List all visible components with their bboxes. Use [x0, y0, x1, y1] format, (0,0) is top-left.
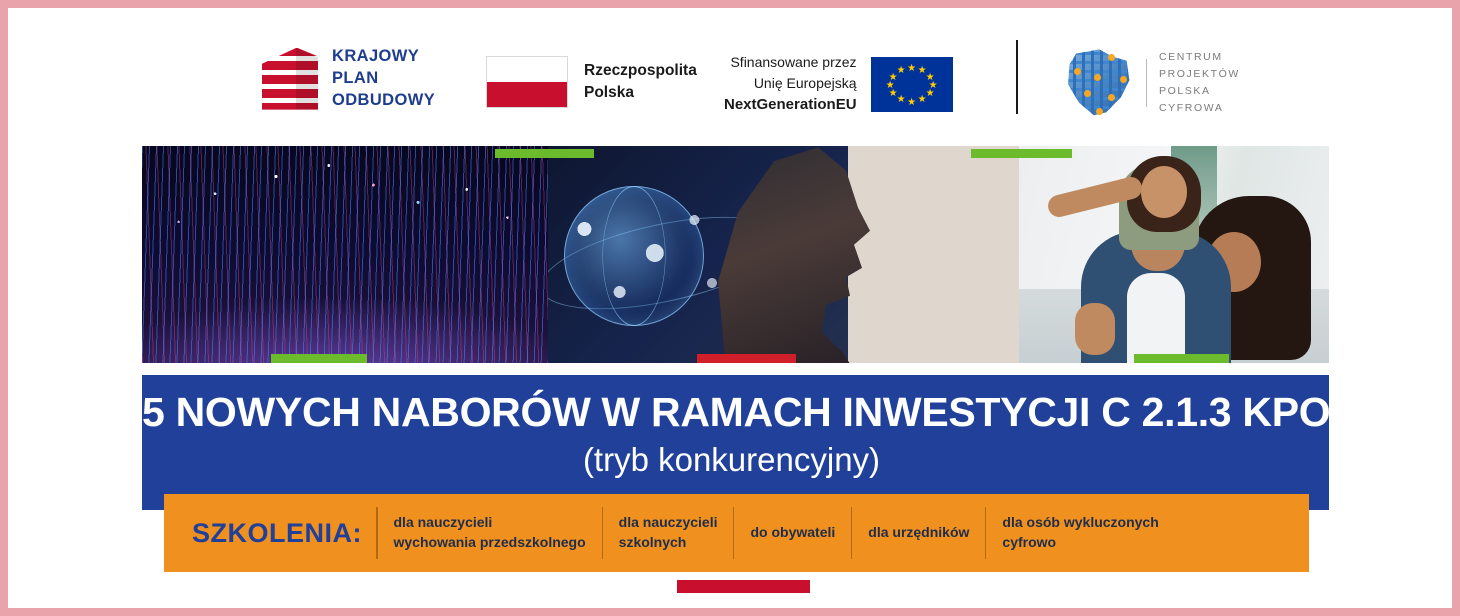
eu-flag-icon: ★ ★ ★ ★ ★ ★ ★ ★ ★ ★ ★ ★: [871, 57, 953, 112]
headline-banner: 5 NOWYCH NABORÓW W RAMACH INWESTYCJI C 2…: [142, 375, 1329, 510]
cppc-line-2: PROJEKTÓW: [1159, 66, 1240, 83]
training-audience-digitally-excluded: dla osób wykluczonych cyfrowo: [985, 507, 1174, 559]
kpo-line-2: PLAN: [332, 68, 435, 90]
funding-logo-strip: KRAJOWY PLAN ODBUDOWY Rzeczpospolita Pol…: [8, 8, 1452, 130]
accent-bar-green-bottom-right: [1134, 354, 1229, 363]
training-0-line-2: wychowania przedszkolnego: [394, 533, 586, 553]
training-1-line-1: dla nauczycieli: [619, 513, 718, 533]
cppc-poland-circuit-logo-icon: [1064, 48, 1132, 118]
training-4-line-1: dla osób wykluczonych: [1002, 513, 1158, 533]
poster-page: KRAJOWY PLAN ODBUDOWY Rzeczpospolita Pol…: [0, 0, 1460, 616]
trainings-bar: SZKOLENIA: dla nauczycieli wychowania pr…: [164, 494, 1309, 572]
ai-network-profile-image: [548, 146, 1019, 363]
page-title: 5 NOWYCH NABORÓW W RAMACH INWESTYCJI C 2…: [142, 389, 1321, 436]
abstract-data-visualization-image: [142, 146, 548, 363]
rp-line-2: Polska: [584, 82, 697, 104]
training-3-line-1: dla urzędników: [868, 523, 969, 543]
krajowy-plan-odbudowy-logo-icon: [262, 48, 318, 110]
kpo-line-3: ODBUDOWY: [332, 90, 435, 112]
cppc-line-4: CYFROWA: [1159, 100, 1240, 117]
cppc-logo-text: CENTRUM PROJEKTÓW POLSKA CYFROWA: [1159, 49, 1240, 117]
training-0-line-1: dla nauczycieli: [394, 513, 586, 533]
kpo-logo-block: KRAJOWY PLAN ODBUDOWY: [262, 46, 435, 111]
training-audience-officials: dla urzędników: [851, 507, 985, 559]
training-audience-preschool-teachers: dla nauczycieli wychowania przedszkolneg…: [378, 507, 602, 559]
training-1-line-2: szkolnych: [619, 533, 718, 553]
republic-of-poland-block: Rzeczpospolita Polska: [486, 56, 697, 108]
eu-funding-text: Sfinansowane przez Unię Europejską NextG…: [724, 52, 857, 117]
cppc-logo-block: CENTRUM PROJEKTÓW POLSKA CYFROWA: [1064, 48, 1240, 118]
accent-bar-red-bottom-center: [697, 354, 796, 363]
training-2-line-1: do obywateli: [750, 523, 835, 543]
accent-bar-green-top-right: [971, 149, 1072, 158]
kpo-line-1: KRAJOWY: [332, 46, 435, 68]
eu-line-1: Sfinansowane przez: [724, 52, 857, 73]
poland-flag-icon: [486, 56, 568, 108]
republic-of-poland-text: Rzeczpospolita Polska: [584, 60, 697, 105]
page-subtitle: (tryb konkurencyjny): [142, 441, 1321, 479]
training-audience-citizens: do obywateli: [733, 507, 851, 559]
eu-line-3: NextGenerationEU: [724, 94, 857, 117]
accent-bar-green-top-left: [495, 149, 594, 158]
training-4-line-2: cyfrowo: [1002, 533, 1158, 553]
family-at-home-image: [1019, 146, 1329, 363]
logo-strip-divider: [1016, 40, 1018, 114]
rp-line-1: Rzeczpospolita: [584, 60, 697, 82]
european-union-block: Sfinansowane przez Unię Europejską NextG…: [724, 52, 953, 117]
eu-line-2: Unię Europejską: [724, 73, 857, 94]
cppc-line-3: POLSKA: [1159, 83, 1240, 100]
kpo-logo-text: KRAJOWY PLAN ODBUDOWY: [332, 46, 435, 111]
photo-band: [142, 146, 1329, 363]
accent-bar-red-footer: [677, 580, 810, 593]
accent-bar-green-bottom-left: [271, 354, 367, 363]
cppc-logo-divider: [1146, 59, 1147, 107]
training-audience-school-teachers: dla nauczycieli szkolnych: [602, 507, 734, 559]
trainings-label: SZKOLENIA:: [164, 518, 376, 549]
cppc-line-1: CENTRUM: [1159, 49, 1240, 66]
